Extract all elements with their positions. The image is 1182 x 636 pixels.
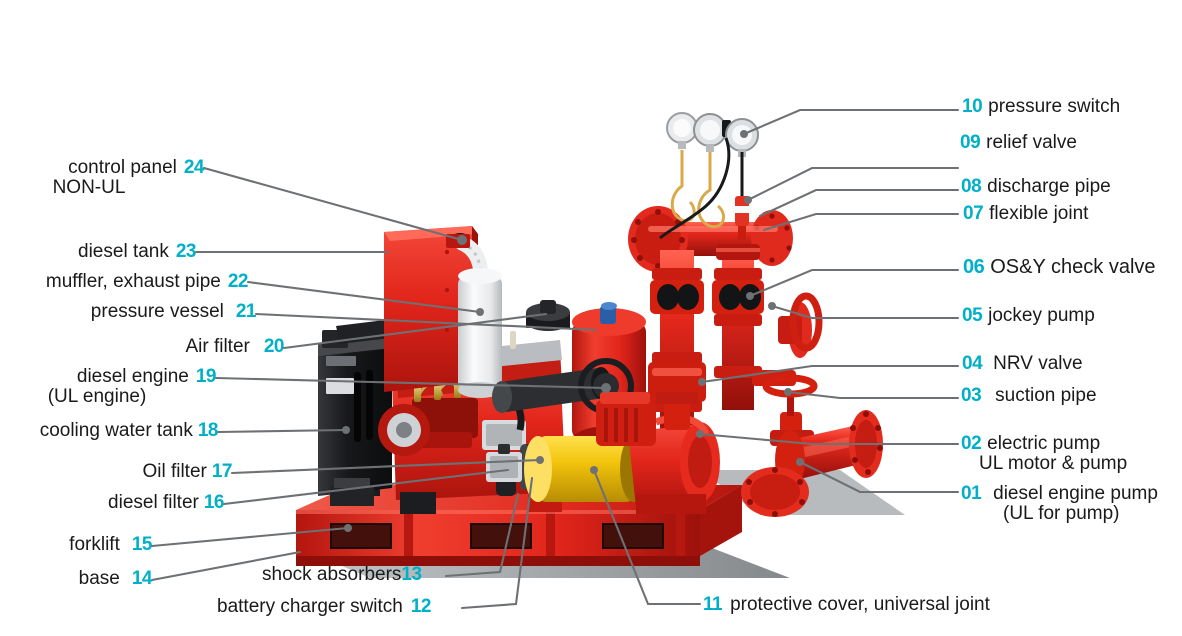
callout-label: electric pump	[987, 433, 1100, 454]
callout-sublabel: UL motor & pump	[979, 454, 1127, 474]
callout-label: pressure vessel	[91, 301, 224, 322]
callout-19[interactable]: diesel engine19 (UL engine)	[0, 367, 216, 407]
callout-number: 05	[962, 305, 982, 326]
callout-label: relief valve	[986, 132, 1077, 153]
callout-label: cooling water tank	[40, 420, 193, 441]
callout-15[interactable]: forklift15	[0, 535, 152, 555]
callout-sublabel: NON-UL	[0, 178, 204, 198]
callout-number: 02	[961, 433, 981, 454]
callout-24[interactable]: control panel24 NON-UL	[0, 158, 204, 198]
callout-20[interactable]: Air filter20	[0, 337, 284, 357]
callout-label: diesel filter	[108, 492, 199, 513]
callout-01[interactable]: 01diesel engine pump (UL for pump)	[961, 484, 1158, 524]
callout-label: discharge pipe	[987, 176, 1111, 197]
callout-number: 07	[963, 203, 983, 224]
callout-18[interactable]: cooling water tank18	[0, 421, 218, 441]
callout-number: 06	[963, 256, 984, 278]
flexible-joint	[716, 244, 760, 260]
callout-sublabel: (UL engine)	[0, 387, 216, 407]
discharge-pipe-header	[628, 206, 793, 272]
callout-21[interactable]: pressure vessel21	[0, 302, 256, 322]
callout-label: protective cover, universal joint	[730, 594, 990, 615]
callout-label: diesel engine pump	[993, 483, 1158, 504]
callout-10[interactable]: 10pressure switch	[962, 97, 1120, 117]
callout-number: 13	[401, 564, 421, 585]
callout-number: 21	[236, 301, 256, 322]
callout-05[interactable]: 05jockey pump	[962, 306, 1095, 326]
callout-label: suction pipe	[995, 385, 1096, 406]
callout-label: Air filter	[185, 336, 249, 357]
callout-label: shock absorbers	[262, 564, 401, 585]
callout-label: pressure switch	[988, 96, 1120, 117]
callout-label: muffler, exhaust pipe	[46, 271, 221, 292]
callout-11[interactable]: 11protective cover, universal joint	[703, 595, 990, 615]
callout-label: OS&Y check valve	[990, 256, 1155, 278]
callout-label: NRV valve	[993, 353, 1082, 374]
callout-label: Oil filter	[142, 461, 206, 482]
callout-03[interactable]: 03suction pipe	[961, 386, 1097, 406]
callout-09[interactable]: 09relief valve	[960, 133, 1077, 153]
callout-number: 23	[176, 241, 196, 262]
callout-label: flexible joint	[989, 203, 1088, 224]
callout-number: 18	[198, 420, 218, 441]
callout-08[interactable]: 08discharge pipe	[961, 177, 1111, 197]
forklift-pocket	[602, 523, 664, 549]
callout-06[interactable]: 06OS&Y check valve	[963, 257, 1156, 278]
callout-number: 03	[961, 385, 981, 406]
callout-label: diesel tank	[78, 241, 169, 262]
callout-23[interactable]: diesel tank23	[0, 242, 196, 262]
forklift-pocket	[470, 523, 532, 549]
air-filter	[526, 300, 570, 331]
callout-14[interactable]: base14	[0, 569, 152, 589]
callout-number: 16	[204, 492, 224, 513]
callout-16[interactable]: diesel filter16	[0, 493, 224, 513]
callout-number: 22	[228, 271, 248, 292]
electric-pump	[596, 392, 656, 446]
osy-check-valve-2	[712, 280, 764, 314]
callout-number: 14	[132, 568, 152, 589]
callout-number: 15	[132, 534, 152, 555]
callout-sublabel: (UL for pump)	[1003, 504, 1158, 524]
callout-number: 09	[960, 132, 980, 153]
callout-02[interactable]: 02electric pump UL motor & pump	[961, 434, 1127, 474]
callout-number: 12	[411, 596, 431, 617]
callout-04[interactable]: 04NRV valve	[962, 354, 1083, 374]
diagram-canvas: 10pressure switch 09relief valve 08disch…	[0, 0, 1182, 636]
callout-label: forklift	[69, 534, 120, 555]
callout-22[interactable]: muffler, exhaust pipe22	[0, 272, 248, 292]
callout-number: 11	[703, 594, 722, 615]
callout-number: 04	[962, 353, 982, 374]
pressure-switch	[726, 119, 758, 157]
callout-12[interactable]: battery charger switch12	[217, 597, 431, 617]
callout-17[interactable]: Oil filter17	[0, 462, 232, 482]
callout-number: 24	[184, 157, 204, 178]
callout-label: control panel	[68, 157, 177, 178]
callout-13[interactable]: shock absorbers13	[262, 565, 422, 585]
pressure-gauge	[667, 113, 697, 149]
callout-label: diesel engine	[77, 366, 189, 387]
callout-number: 17	[212, 461, 232, 482]
callout-number: 08	[961, 176, 981, 197]
callout-label: base	[79, 568, 120, 589]
callout-number: 20	[264, 336, 284, 357]
callout-number: 01	[961, 483, 981, 504]
callout-number: 10	[962, 96, 982, 117]
callout-number: 19	[196, 366, 216, 387]
forklift-pocket	[330, 523, 392, 549]
callout-label: battery charger switch	[217, 596, 403, 617]
callout-label: jockey pump	[988, 305, 1095, 326]
callout-07[interactable]: 07flexible joint	[963, 204, 1088, 224]
osy-check-valve	[650, 280, 704, 314]
control-panel	[446, 234, 470, 248]
